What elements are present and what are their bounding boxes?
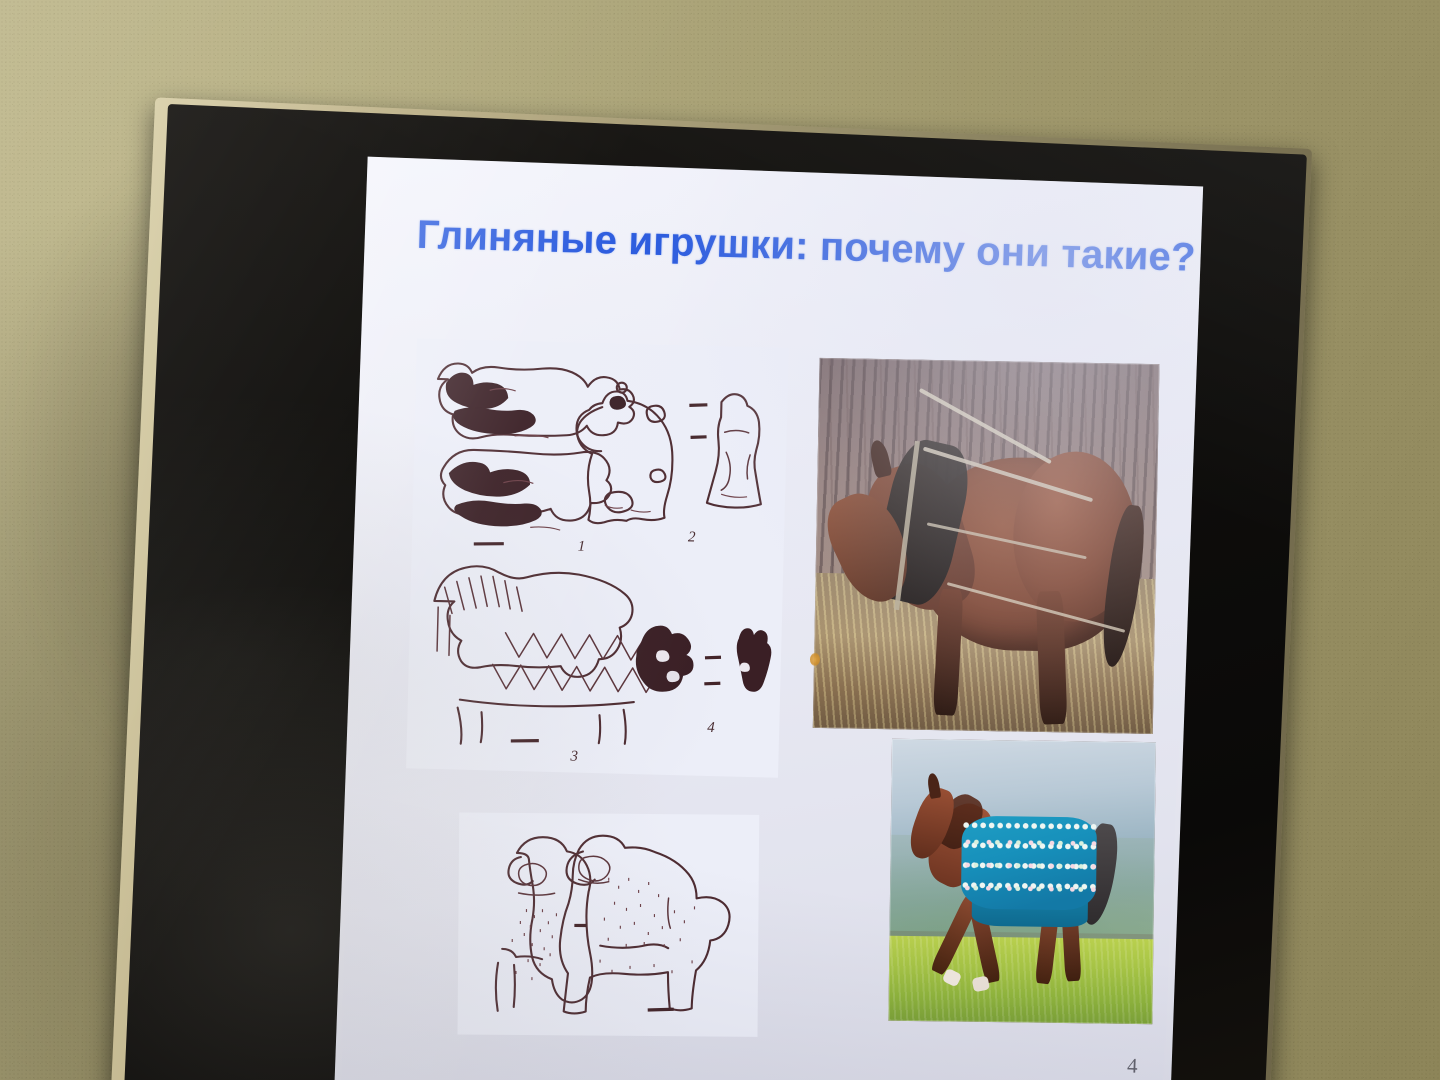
working-horse-in-harness-photo: [813, 358, 1160, 734]
archaeological-drawings-svg: 1: [406, 338, 789, 777]
figure-label-4: 4: [707, 720, 715, 736]
clay-figurine-drawings-panel: [457, 813, 759, 1037]
figure-label-2: 2: [688, 529, 696, 545]
slide-number: 4: [1127, 1053, 1138, 1078]
slide-title: Глиняные игрушки: почему они такие?: [416, 213, 1177, 281]
television: Глиняные игрушки: почему они такие?: [124, 104, 1307, 1080]
archaeological-drawings-panel: 1: [406, 338, 789, 777]
figurine-3-ornamented: [431, 565, 663, 748]
figurine-4-head-fragments: [636, 626, 771, 694]
figure-label-3: 3: [569, 748, 578, 764]
tv-bezel: Глиняные игрушки: почему они такие?: [124, 104, 1307, 1080]
room-photo: Глиняные игрушки: почему они такие?: [0, 0, 1440, 1080]
clay-figurine-drawings-svg: [457, 813, 759, 1037]
figure-label-1: 1: [578, 539, 586, 555]
horse-in-blue-blanket-photo: [888, 739, 1156, 1024]
figurine-2-front-view: [707, 394, 764, 509]
figurine-1-top-view: [436, 363, 666, 443]
figurine-1-side-view: [440, 448, 634, 532]
presentation-slide: Глиняные игрушки: почему они такие?: [333, 157, 1203, 1080]
figurine-2-outline: [574, 391, 674, 526]
